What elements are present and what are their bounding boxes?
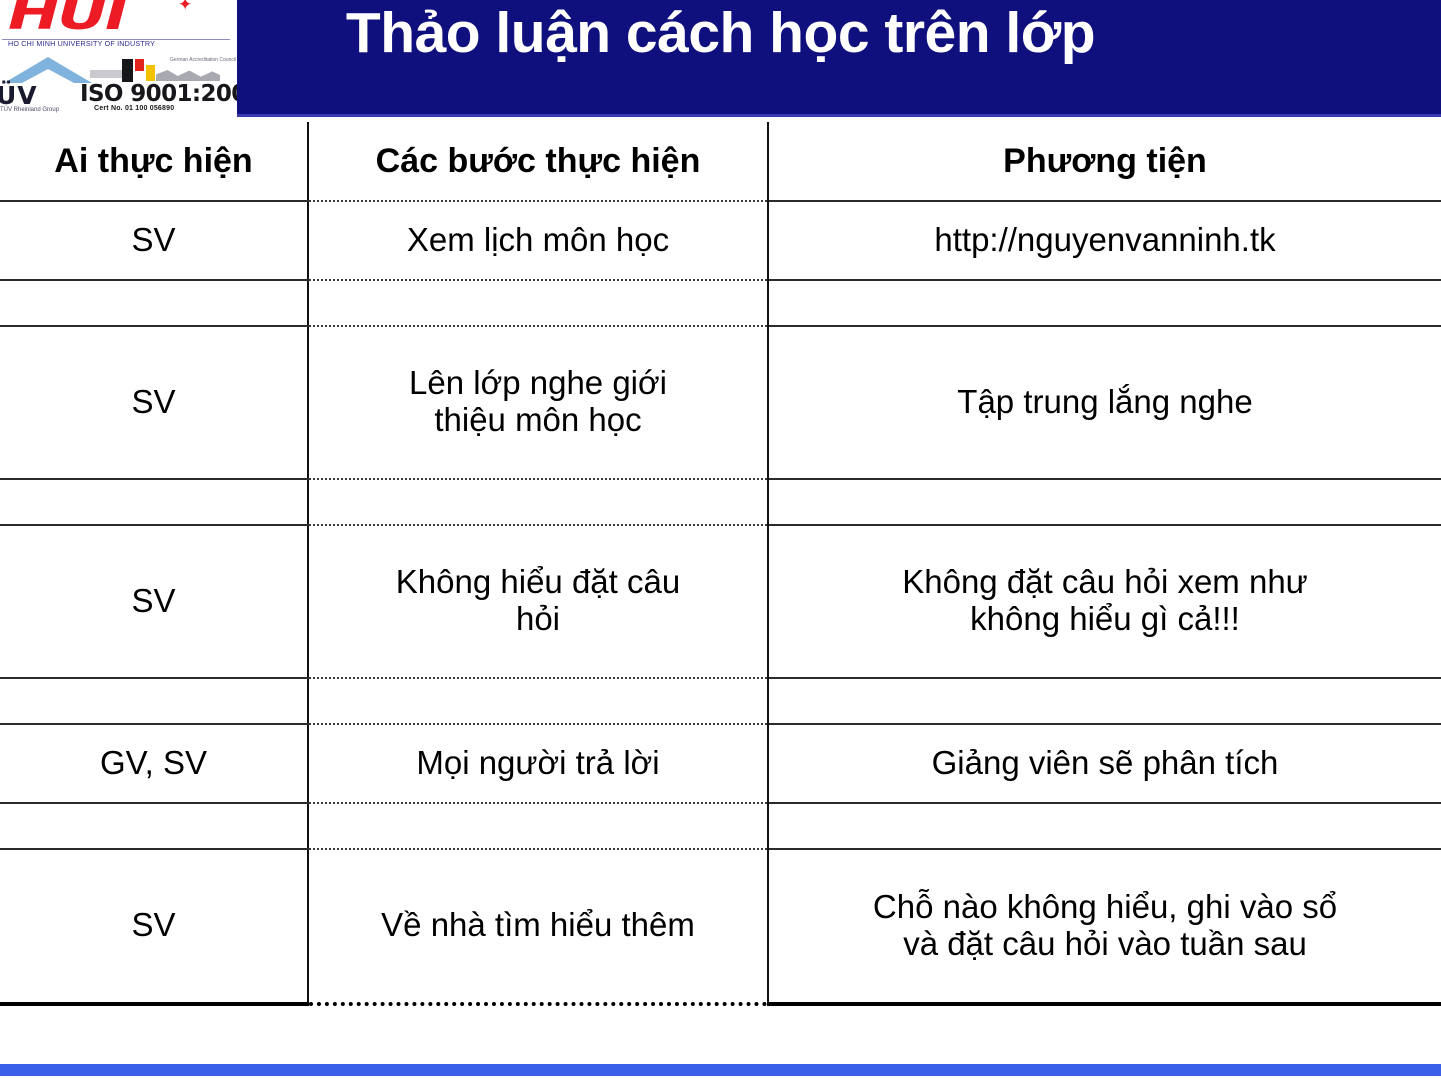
cell-means-line2: và đặt câu hỏi vào tuần sau (777, 926, 1433, 963)
column-header-steps: Các bước thực hiện (308, 122, 768, 201)
cell-step: Về nhà tìm hiểu thêm (308, 849, 768, 1004)
table-row: SV Không hiểu đặt câu hỏi Không đặt câu … (0, 525, 1441, 678)
cell-step: Lên lớp nghe giới thiệu môn học (308, 326, 768, 479)
table-row: SV Về nhà tìm hiểu thêm Chỗ nào không hi… (0, 849, 1441, 1004)
iso-certification-mark: German Accreditation Council ISO 9001:20… (80, 58, 232, 116)
cell-step-line2: hỏi (317, 601, 759, 638)
cell-means: Tập trung lắng nghe (768, 326, 1441, 479)
cell-who: SV (0, 201, 308, 280)
cell-step: Mọi người trả lời (308, 724, 768, 803)
cell-means: Chỗ nào không hiểu, ghi vào sổ và đặt câ… (768, 849, 1441, 1004)
cell-means: Giảng viên sẽ phân tích (768, 724, 1441, 803)
cell-step: Không hiểu đặt câu hỏi (308, 525, 768, 678)
column-header-means: Phương tiện (768, 122, 1441, 201)
slide: HUI ✦ HO CHI MINH UNIVERSITY OF INDUSTRY… (0, 0, 1441, 1081)
table-row: SV Xem lịch môn học http://nguyenvanninh… (0, 201, 1441, 280)
table-header-row: Ai thực hiện Các bước thực hiện Phương t… (0, 122, 1441, 201)
cell-spacer (0, 479, 308, 525)
cell-spacer (308, 803, 768, 849)
tuv-mark-text: ÜV (0, 83, 38, 108)
cell-means-line1: Chỗ nào không hiểu, ghi vào sổ (777, 889, 1433, 926)
table-spacer-row (0, 479, 1441, 525)
table-spacer-row (0, 803, 1441, 849)
iso-standard-label: ISO 9001:2000 (80, 83, 237, 106)
iso-bar-grey (90, 70, 122, 78)
slide-header: HUI ✦ HO CHI MINH UNIVERSITY OF INDUSTRY… (0, 0, 1441, 117)
cell-spacer (0, 678, 308, 724)
cell-spacer (768, 678, 1441, 724)
tuv-caption: TÜV Rheinland Group (0, 107, 59, 113)
cell-who: SV (0, 849, 308, 1004)
table-spacer-row (0, 280, 1441, 326)
cell-spacer (768, 280, 1441, 326)
iso-certificate-number: Cert No. 01 100 056890 (94, 105, 174, 112)
cell-spacer (0, 803, 308, 849)
procedure-table-container: Ai thực hiện Các bước thực hiện Phương t… (0, 122, 1441, 1006)
column-header-who: Ai thực hiện (0, 122, 308, 201)
procedure-table: Ai thực hiện Các bước thực hiện Phương t… (0, 122, 1441, 1006)
cell-who: SV (0, 326, 308, 479)
cell-who: SV (0, 525, 308, 678)
footer-accent-bar (0, 1064, 1441, 1076)
cell-spacer (308, 280, 768, 326)
cell-means-line1: Không đặt câu hỏi xem như (777, 564, 1433, 601)
cell-step-line1: Lên lớp nghe giới (317, 365, 759, 402)
title-bar-underline (237, 114, 1441, 117)
cell-spacer (0, 280, 308, 326)
cell-means: http://nguyenvanninh.tk (768, 201, 1441, 280)
cell-means: Không đặt câu hỏi xem như không hiểu gì … (768, 525, 1441, 678)
cell-who: GV, SV (0, 724, 308, 803)
cell-spacer (308, 479, 768, 525)
cell-step: Xem lịch môn học (308, 201, 768, 280)
table-spacer-row (0, 678, 1441, 724)
cell-means-line2: không hiểu gì cả!!! (777, 601, 1433, 638)
table-row: SV Lên lớp nghe giới thiệu môn học Tập t… (0, 326, 1441, 479)
table-row: GV, SV Mọi người trả lời Giảng viên sẽ p… (0, 724, 1441, 803)
page-title: Thảo luận cách học trên lớp (0, 4, 1441, 64)
iso-bar-yellow (146, 65, 155, 81)
cell-step-line2: thiệu môn học (317, 402, 759, 439)
cell-step-line1: Không hiểu đặt câu (317, 564, 759, 601)
cell-spacer (768, 479, 1441, 525)
cell-spacer (308, 678, 768, 724)
cell-spacer (768, 803, 1441, 849)
iso-squiggle-icon (156, 70, 220, 81)
